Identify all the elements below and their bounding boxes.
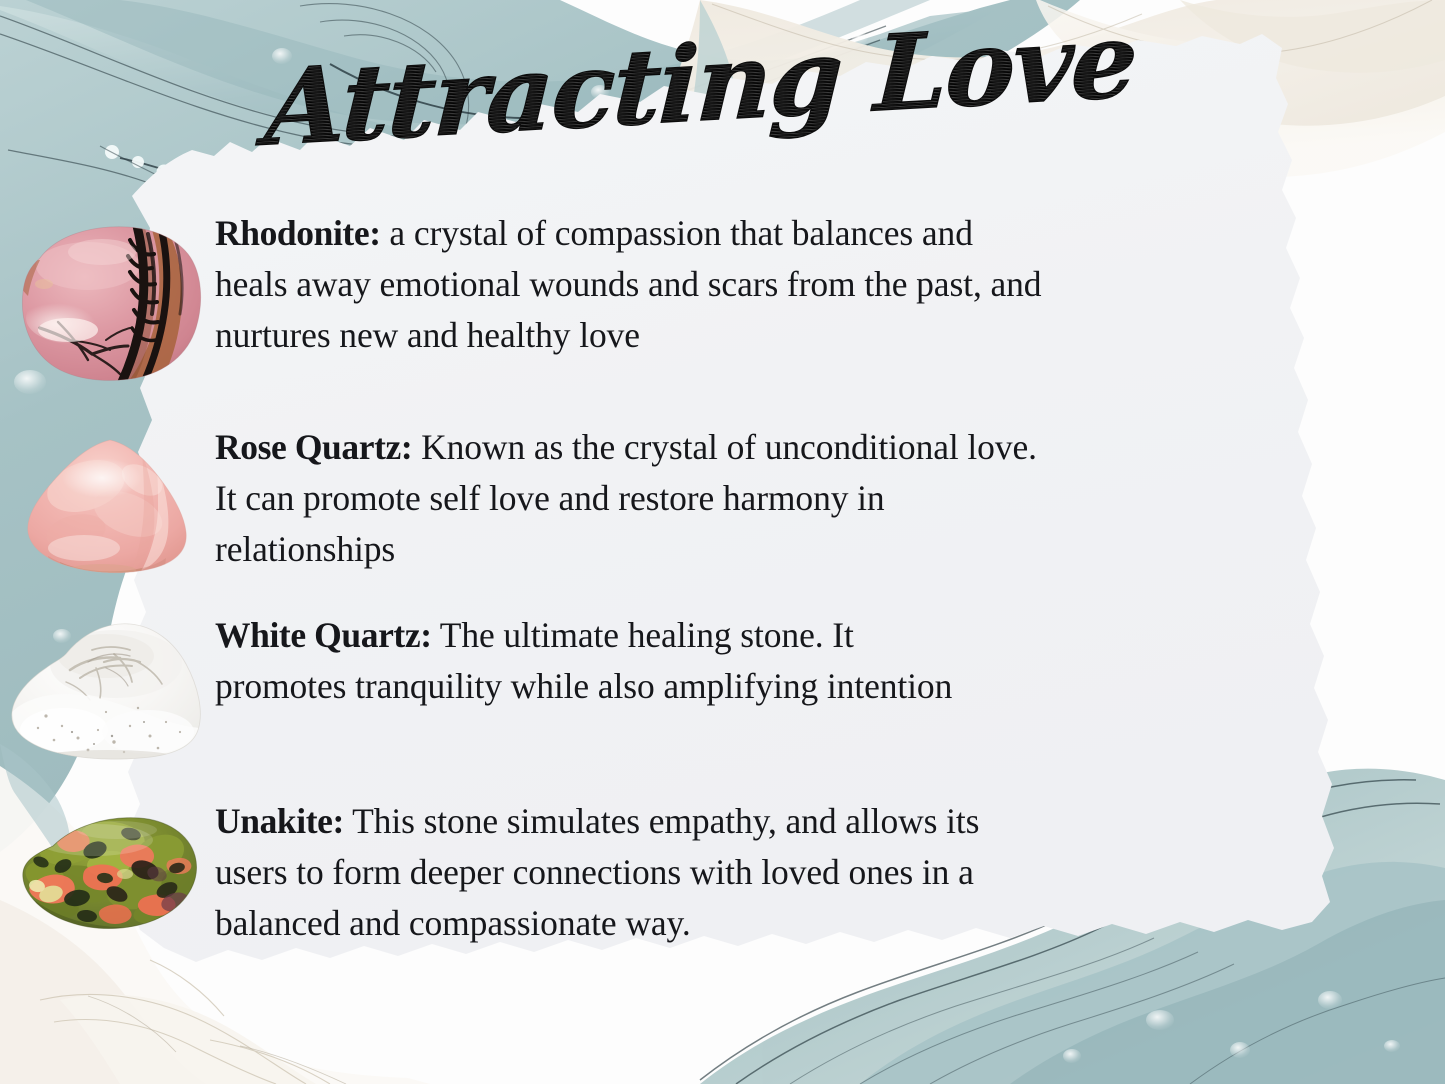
crystal-image-unakite	[0, 796, 215, 934]
rhodonite-stone-icon	[10, 222, 206, 384]
poster-content: Attracting Love	[0, 0, 1445, 1084]
unakite-stone-icon	[17, 812, 199, 934]
crystal-description-unakite: Unakite: This stone simulates empathy, a…	[215, 796, 1085, 949]
crystal-label-unakite: Unakite:	[215, 801, 344, 841]
list-item: Rhodonite: a crystal of compassion that …	[0, 208, 1445, 384]
crystal-label-white-quartz: White Quartz:	[215, 615, 432, 655]
crystal-description-white-quartz: White Quartz: The ultimate healing stone…	[215, 610, 1005, 712]
crystal-image-rose-quartz	[0, 422, 215, 578]
crystal-image-white-quartz	[0, 610, 215, 768]
list-item: White Quartz: The ultimate healing stone…	[0, 610, 1445, 768]
white-quartz-stone-icon	[8, 616, 208, 768]
list-item: Unakite: This stone simulates empathy, a…	[0, 796, 1445, 949]
list-item: Rose Quartz: Known as the crystal of unc…	[0, 422, 1445, 578]
crystal-description-rhodonite: Rhodonite: a crystal of compassion that …	[215, 208, 1075, 361]
rose-quartz-stone-icon	[24, 436, 192, 578]
crystal-label-rose-quartz: Rose Quartz:	[215, 427, 412, 467]
crystal-description-rose-quartz: Rose Quartz: Known as the crystal of unc…	[215, 422, 1095, 575]
crystal-image-rhodonite	[0, 208, 215, 384]
crystal-label-rhodonite: Rhodonite:	[215, 213, 381, 253]
page-title: Attracting Love	[275, 36, 1075, 186]
crystal-list: Rhodonite: a crystal of compassion that …	[0, 208, 1445, 949]
page-title-text: Attracting Love	[253, 0, 1138, 170]
poster-canvas: Attracting Love	[0, 0, 1445, 1084]
